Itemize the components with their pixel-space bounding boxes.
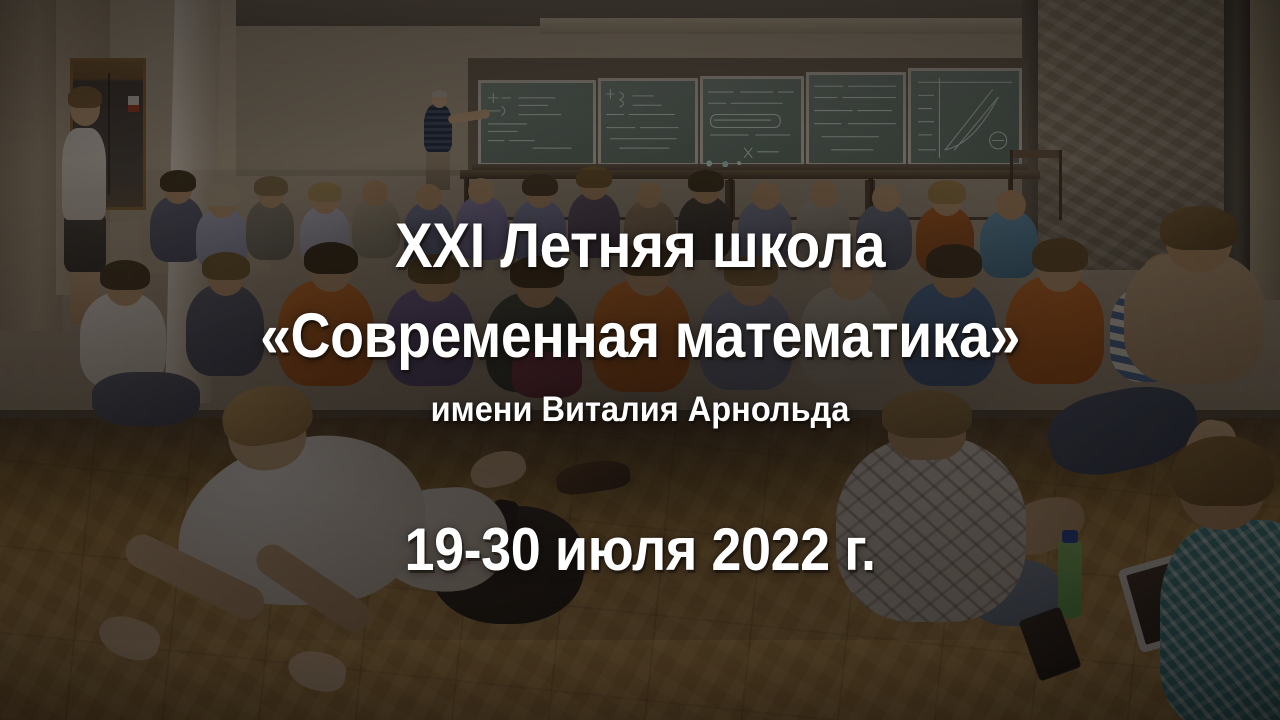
poster-banner: XXI Летняя школа «Современная математика…	[0, 0, 1280, 720]
title-line-1: XXI Летняя школа	[64, 214, 1216, 278]
event-dates: 19-30 июля 2022 г.	[64, 519, 1216, 581]
poster-text-block: XXI Летняя школа «Современная математика…	[0, 0, 1280, 720]
title-line-2: «Современная математика»	[77, 304, 1203, 368]
title-line-3-dedication: имени Виталия Арнольда	[45, 392, 1235, 428]
